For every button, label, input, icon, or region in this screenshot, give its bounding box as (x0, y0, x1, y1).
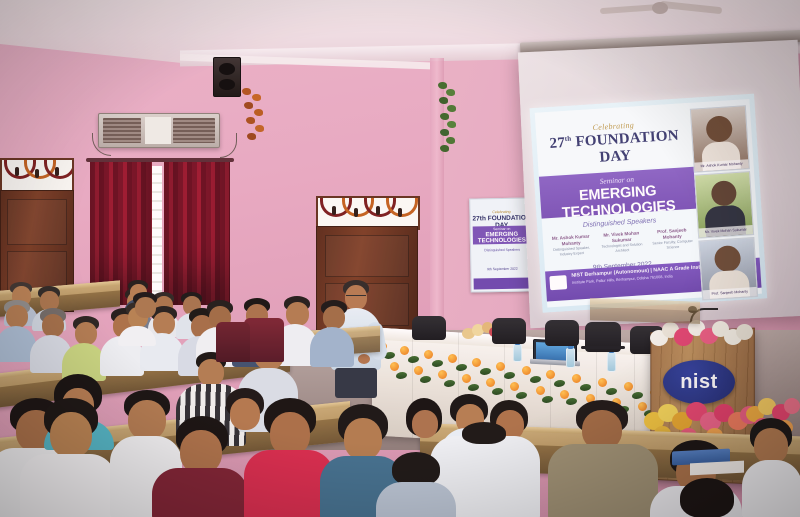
poster-band: Seminar on EMERGING TECHNOLOGIES (473, 225, 531, 244)
maroon-window-curtain (164, 160, 230, 305)
red-auditorium-chair (244, 318, 284, 362)
slide-seminar-band: Seminar on EMERGING TECHNOLOGIES (539, 167, 696, 219)
seated-attendee (548, 400, 658, 517)
speaker-portrait: Prof. Sanjeeb Mohanty (698, 237, 758, 300)
poster-seminar-title: EMERGING TECHNOLOGIES (473, 231, 531, 244)
curtain-rod (86, 158, 234, 162)
wooden-bench-desk (590, 298, 700, 324)
presentation-slide: Celebrating 27th FOUNDATION DAY Seminar … (529, 94, 767, 313)
black-office-chair[interactable] (412, 316, 446, 340)
slide-speaker: Mr. Vivek Mohan Sukumar Technologist and… (597, 230, 646, 255)
footer-logo-icon (549, 275, 567, 290)
decorative-vine (240, 88, 266, 142)
presenter-hand (358, 354, 370, 364)
transom-window-with-bunting (316, 196, 420, 230)
water-bottle (566, 348, 575, 368)
water-bottle (513, 344, 522, 362)
window-air-conditioner (98, 113, 220, 148)
water-bottle (607, 352, 616, 372)
slide-speaker: Mr. Ashok Kumar Mohanty Distinguished Sp… (547, 233, 596, 258)
red-auditorium-chair (216, 322, 250, 362)
speaker-detail: Senior Faculty, Computer Science (649, 239, 697, 251)
transom-window-with-bunting (0, 158, 74, 194)
poster-footer (474, 277, 532, 289)
foundation-day-number: 27 (549, 135, 565, 152)
ceiling-fan-icon (600, 0, 730, 18)
projector-screen: Celebrating 27th FOUNDATION DAY Seminar … (518, 40, 800, 328)
slide-speakers-row: Mr. Ashok Kumar Mohanty Distinguished Sp… (547, 227, 697, 258)
auditorium-photo: Celebrating 27th FOUNDATION DAY Seminar … (0, 0, 800, 517)
speaker-portrait: Mr. Vivek Mohan Sukumar (694, 171, 754, 238)
presenter-trousers (335, 368, 377, 398)
speaker-detail: Distinguished Speaker, Industry Expert (548, 246, 596, 258)
poster-date: 9th September 2022 (471, 266, 533, 271)
slide-inner: Celebrating 27th FOUNDATION DAY Seminar … (535, 99, 762, 307)
black-office-chair[interactable] (585, 322, 621, 352)
wall-mounted-loudspeaker (213, 57, 241, 97)
decorative-vine (437, 82, 457, 152)
seated-attendee (376, 452, 456, 517)
seated-attendee (662, 478, 752, 517)
foundation-day-ordinal: th (564, 135, 571, 143)
poster-speakers-heading: Distinguished Speakers (471, 247, 533, 252)
seated-attendee (20, 398, 116, 517)
slide-speaker: Prof. Sanjeeb Mohanty Senior Faculty, Co… (648, 227, 697, 252)
speaker-detail: Technologist and Solution Architect (598, 242, 646, 254)
speaker-portrait: Mr. Ashok Kumar Mohanty (690, 105, 750, 172)
foundation-day-text: FOUNDATION DAY (575, 128, 679, 166)
seated-attendee (216, 388, 272, 442)
seated-attendee (124, 292, 164, 322)
black-office-chair[interactable] (492, 318, 526, 344)
black-office-chair[interactable] (545, 320, 579, 346)
podium-flower-arrangement (650, 318, 756, 354)
seated-attendee (310, 300, 354, 364)
